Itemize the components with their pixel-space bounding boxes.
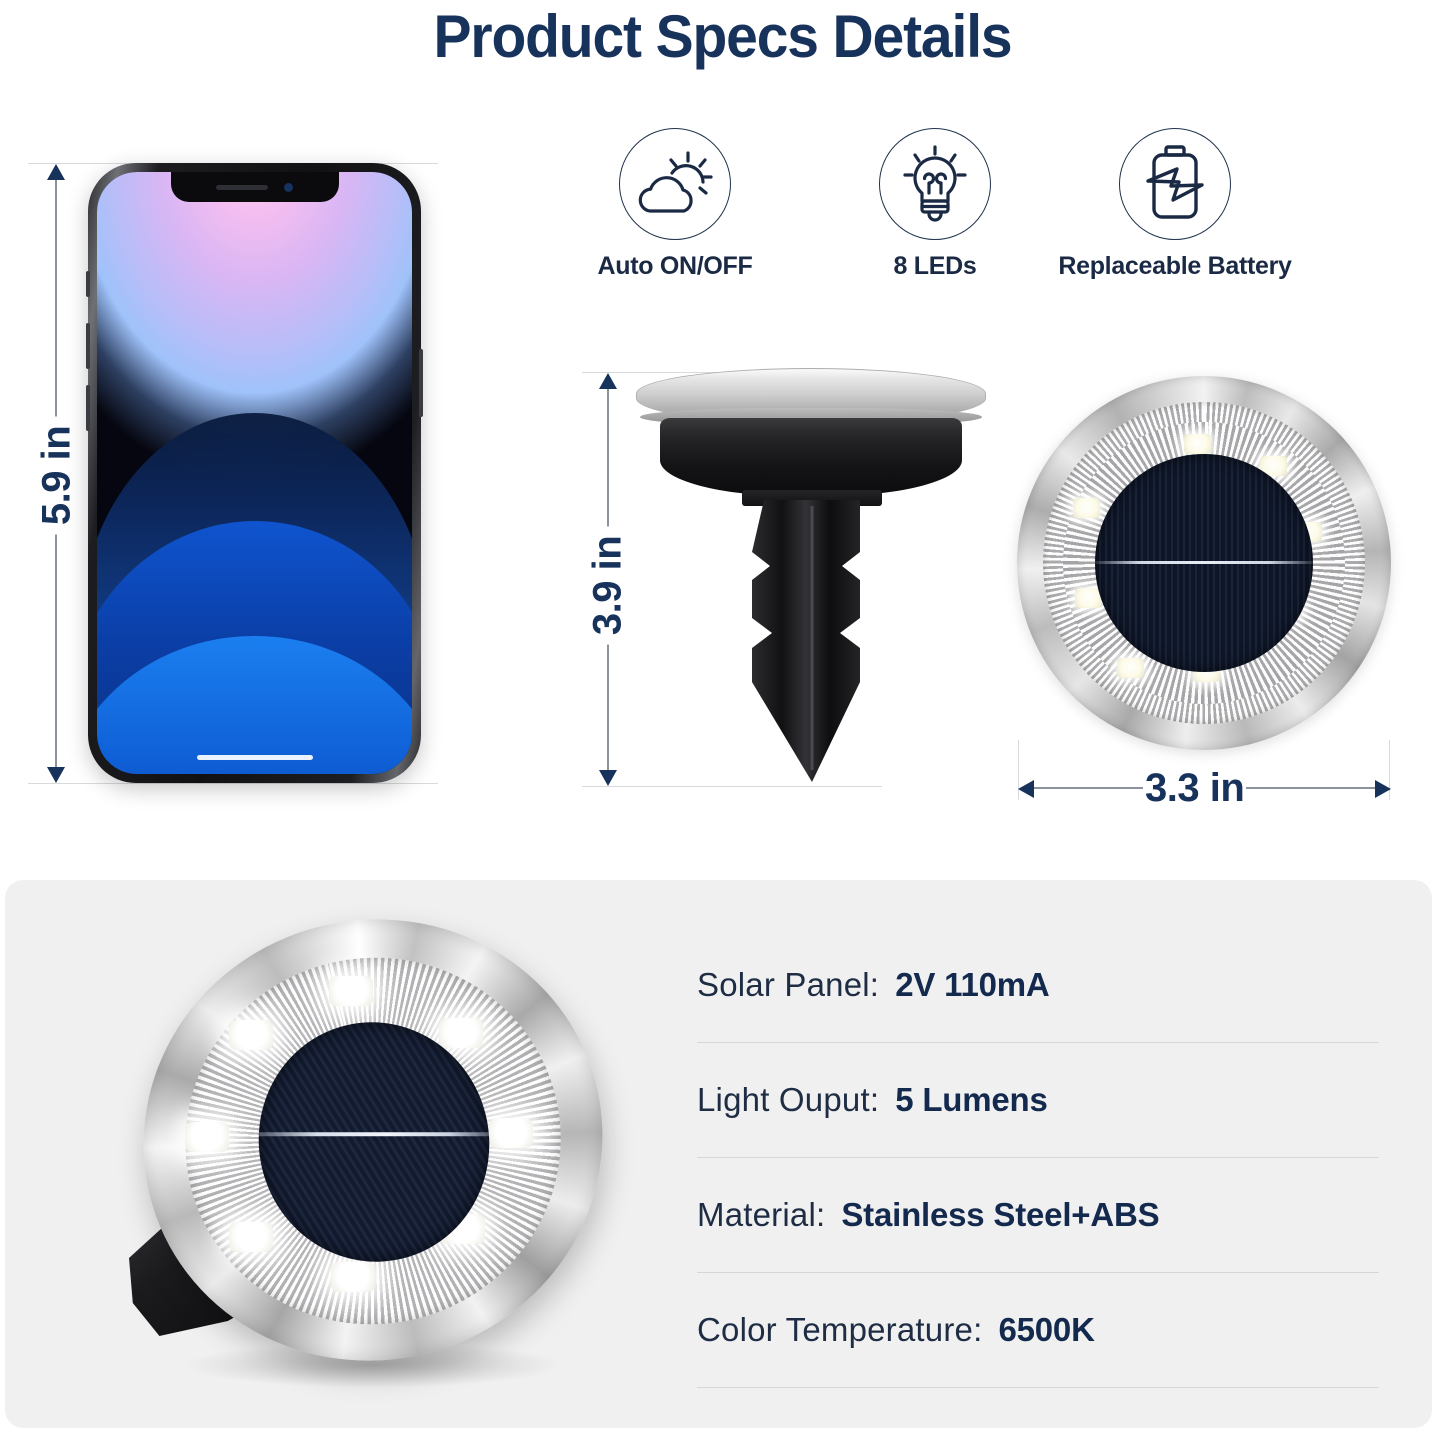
battery-lightning-icon bbox=[1119, 128, 1231, 240]
smartphone-mockup bbox=[88, 163, 421, 783]
solar-light-top-view bbox=[1017, 376, 1391, 750]
arrow-down-icon bbox=[47, 767, 65, 783]
spec-table: Solar Panel: 2V 110mA Light Ouput: 5 Lum… bbox=[697, 928, 1379, 1388]
feature-item-auto-on-off: Auto ON/OFF bbox=[560, 128, 790, 281]
spec-row: Light Ouput: 5 Lumens bbox=[697, 1043, 1379, 1158]
spec-key: Light Ouput: bbox=[697, 1081, 879, 1119]
feature-label: 8 LEDs bbox=[845, 252, 1025, 281]
solar-light-hero-image bbox=[123, 910, 623, 1410]
dimension-label-light-diameter: 3.3 in bbox=[1143, 760, 1246, 817]
spec-key: Material: bbox=[697, 1196, 825, 1234]
home-indicator bbox=[197, 755, 313, 760]
led-chip bbox=[1184, 434, 1211, 454]
spec-value: 5 Lumens bbox=[895, 1081, 1047, 1119]
spec-value: 6500K bbox=[998, 1311, 1094, 1349]
feature-label: Auto ON/OFF bbox=[560, 252, 790, 281]
product-specs-infographic: Product Specs Details Auto ON/OFF bbox=[0, 0, 1445, 1432]
phone-volume-up-button bbox=[86, 323, 90, 369]
dimension-label-light-height: 3.9 in bbox=[580, 527, 637, 645]
spec-row: Solar Panel: 2V 110mA bbox=[697, 928, 1379, 1043]
led-chip bbox=[1117, 658, 1144, 678]
solar-panel bbox=[1095, 454, 1313, 672]
ground-spike bbox=[732, 500, 892, 782]
phone-power-button bbox=[419, 349, 423, 417]
solar-light-side-view bbox=[636, 368, 986, 788]
led-chip bbox=[185, 1122, 229, 1152]
specs-panel: Solar Panel: 2V 110mA Light Ouput: 5 Lum… bbox=[5, 880, 1432, 1428]
phone-volume-down-button bbox=[86, 385, 90, 431]
cloud-sun-icon bbox=[619, 128, 731, 240]
phone-mute-switch bbox=[86, 271, 90, 297]
dimension-label-phone-height: 5.9 in bbox=[29, 417, 86, 535]
feature-label: Replaceable Battery bbox=[1025, 252, 1325, 281]
spec-row: Material: Stainless Steel+ABS bbox=[697, 1158, 1379, 1273]
arrow-left-icon bbox=[1018, 780, 1034, 798]
abs-housing bbox=[660, 418, 962, 496]
led-chip bbox=[331, 1262, 375, 1292]
earpiece-speaker-icon bbox=[216, 185, 268, 190]
arrow-up-icon bbox=[599, 373, 617, 389]
arrow-up-icon bbox=[47, 164, 65, 180]
extension-line-bottom bbox=[28, 783, 438, 784]
led-chip bbox=[329, 976, 373, 1006]
spec-row: Color Temperature: 6500K bbox=[697, 1273, 1379, 1388]
feature-list: Auto ON/OFF 8 LEDs bbox=[560, 128, 1320, 298]
led-chip bbox=[439, 1018, 483, 1048]
led-chip bbox=[229, 1222, 273, 1252]
light-bulb-icon bbox=[879, 128, 991, 240]
front-camera-icon bbox=[284, 183, 293, 192]
phone-screen bbox=[97, 172, 412, 774]
led-chip bbox=[489, 1118, 533, 1148]
feature-item-replaceable-battery: Replaceable Battery bbox=[1025, 128, 1325, 281]
spec-value: Stainless Steel+ABS bbox=[841, 1196, 1159, 1234]
spec-value: 2V 110mA bbox=[895, 966, 1049, 1004]
phone-notch bbox=[171, 172, 339, 202]
page-title: Product Specs Details bbox=[36, 2, 1409, 71]
feature-item-8-leds: 8 LEDs bbox=[845, 128, 1025, 281]
spec-key: Solar Panel: bbox=[697, 966, 879, 1004]
arrow-right-icon bbox=[1375, 780, 1391, 798]
led-chip bbox=[1073, 498, 1100, 518]
spec-key: Color Temperature: bbox=[697, 1311, 982, 1349]
arrow-down-icon bbox=[599, 770, 617, 786]
led-chip bbox=[229, 1020, 273, 1050]
